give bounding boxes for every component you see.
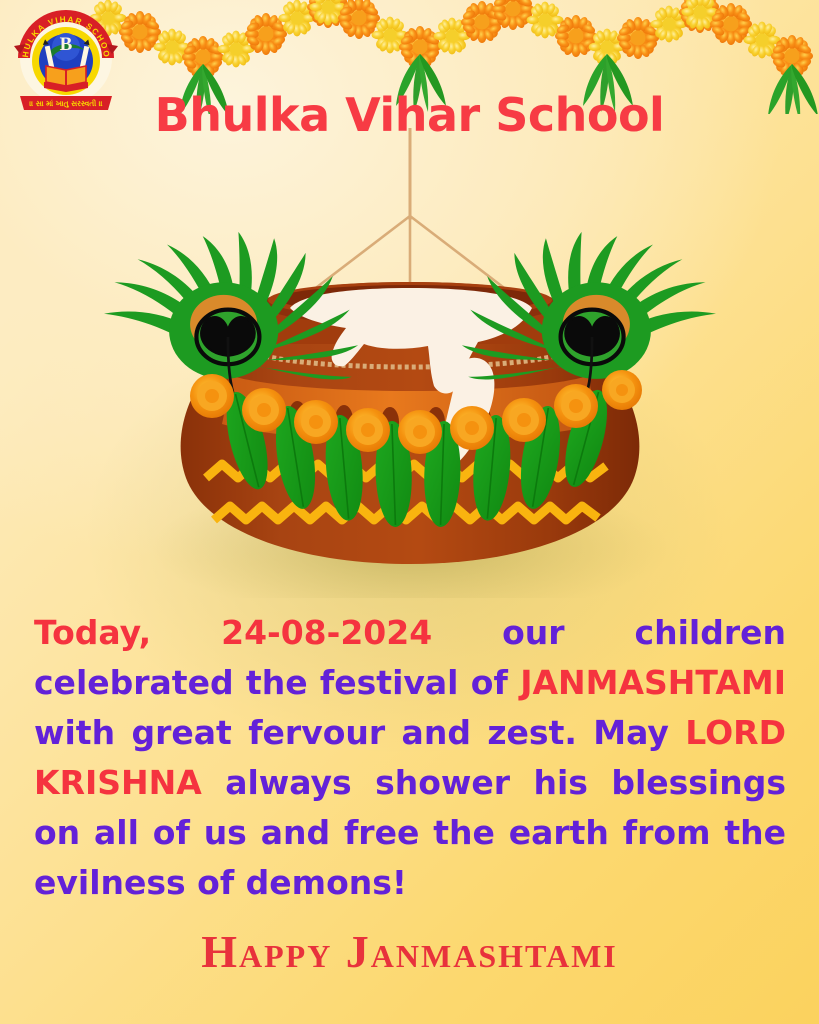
hanging-rope (300, 128, 520, 303)
message-paragraph: Today, 24-08-2024 our children celebrate… (34, 608, 786, 908)
message-segment: JANMASHTAMI (520, 663, 786, 702)
janmashtami-poster: B BHULKA VIHAR SCHOOL ॥ સા માં ખાતુ સરસ્… (0, 0, 819, 1024)
matki-illustration (0, 128, 819, 598)
greeting-text: Happy Janmashtami (0, 925, 819, 978)
message-segment: Today, 24-08-2024 (34, 613, 502, 652)
message-segment: with great fervour and zest. May (34, 713, 685, 752)
logo-monogram: B (60, 34, 73, 55)
